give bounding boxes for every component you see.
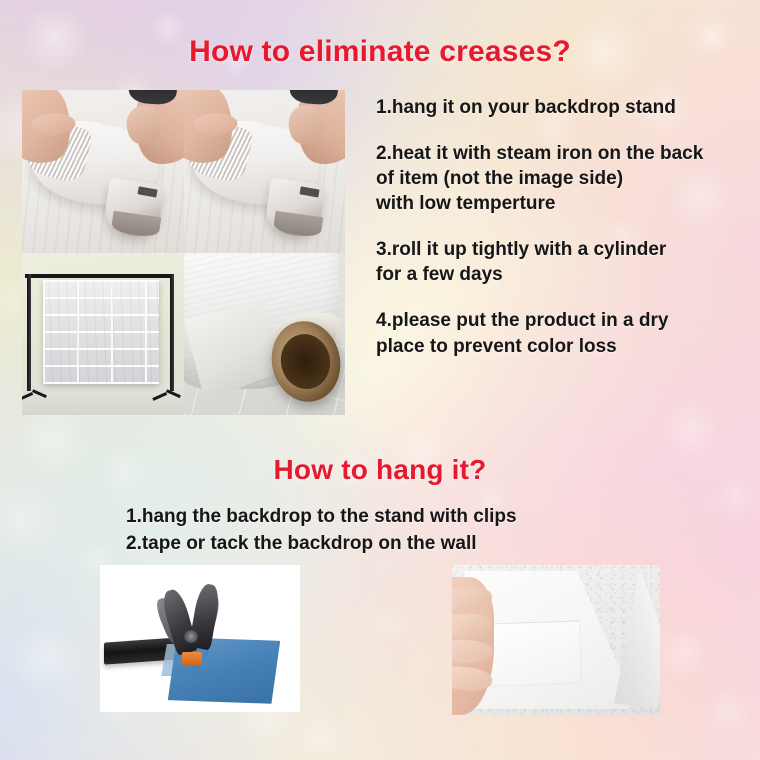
finger [193, 112, 238, 135]
hand-smoothing-creased-fabric-photo-2 [184, 90, 346, 253]
finger-2 [452, 613, 492, 639]
hang-step-1: 1.hang the backdrop to the stand with cl… [126, 504, 686, 529]
bokeh-dot [8, 622, 84, 698]
page-title-eliminate-creases: How to eliminate creases? [0, 35, 760, 69]
bokeh-dot [704, 688, 752, 736]
crease-step-2: 2.heat it with steam iron on the backof … [376, 141, 760, 216]
spring-clamp-holding-backdrop-photo [100, 565, 300, 712]
clamp-orange-grip [182, 652, 202, 665]
brick-pattern-backdrop [43, 280, 159, 384]
hand-peeling-adhesive-sheet-photo [452, 565, 660, 715]
crease-step-3: 3.roll it up tightly with a cylinderfor … [376, 237, 760, 287]
rolled-backdrop-on-cylinder-photo [184, 253, 346, 416]
crease-steps-list: 1.hang it on your backdrop stand 2.heat … [376, 95, 760, 359]
finger-4 [452, 664, 493, 692]
hang-step-2: 2.tape or tack the backdrop on the wall [126, 531, 686, 556]
page-title-how-to-hang: How to hang it? [0, 454, 760, 486]
adhesive-pad [488, 620, 582, 686]
stand-legs-right [154, 373, 180, 393]
finger-3 [452, 640, 492, 664]
bokeh-dot [656, 624, 712, 680]
bokeh-dot [370, 606, 406, 642]
hand-smoothing-creased-fabric-photo-1 [22, 90, 184, 253]
stand-crossbar [25, 274, 174, 278]
clamp-pivot [184, 630, 198, 643]
finger-1 [452, 585, 493, 614]
hang-steps-list: 1.hang the backdrop to the stand with cl… [126, 504, 686, 558]
crease-photo-grid [22, 90, 345, 415]
crease-step-1: 1.hang it on your backdrop stand [376, 95, 760, 120]
bokeh-dot [0, 476, 66, 564]
finger [32, 112, 77, 135]
stand-legs-left [22, 373, 46, 393]
backdrop-stand-with-brick-backdrop-photo [22, 253, 184, 416]
crease-step-4: 4.please put the product in a dryplace t… [376, 308, 760, 358]
bokeh-dot [294, 710, 346, 760]
bokeh-dot [660, 400, 720, 460]
